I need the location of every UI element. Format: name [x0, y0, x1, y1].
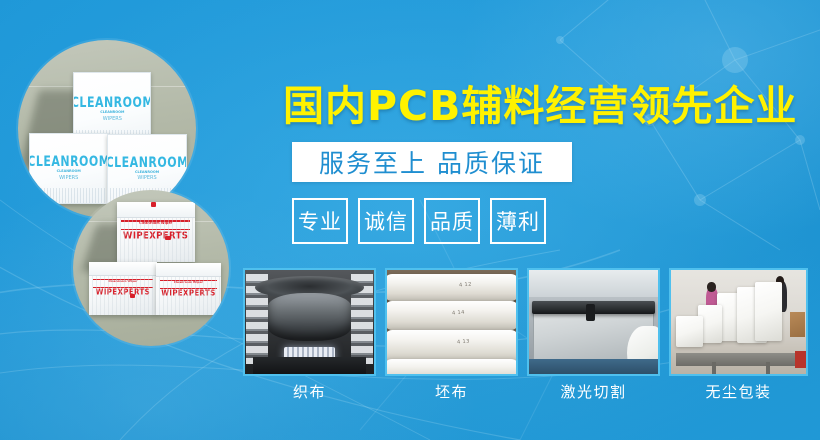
wipexperts-pack: Cleanroom Wiper WIPEXPERTS: [117, 202, 195, 261]
process-photo-strip: 4 12 4 14 4 13: [243, 268, 820, 378]
process-caption-list: 织布 坯布 激光切割 无尘包装: [243, 381, 820, 407]
feature-tag-integrity: 诚信: [358, 198, 414, 244]
wipexperts-pack: Cleanroom Wiper WIPEXPERTS: [156, 263, 222, 314]
banner-headline: 国内PCB辅料经营领先企业: [283, 72, 797, 132]
process-caption-weaving: 织布: [243, 381, 376, 407]
process-photo-dustfree-packing: [669, 268, 808, 376]
feature-tag-quality: 品质: [424, 198, 480, 244]
product-photo-wipexperts: Cleanroom Wiper WIPEXPERTS Cleanroom Wip…: [73, 190, 229, 346]
process-photo-greige-fabric: 4 12 4 14 4 13: [385, 268, 518, 376]
process-caption-laser-cutting: 激光切割: [527, 381, 660, 407]
process-caption-greige-fabric: 坯布: [385, 381, 518, 407]
feature-tag-list: 专业 诚信 品质 薄利: [292, 198, 546, 244]
banner-subtitle-text: 服务至上 品质保证: [319, 144, 545, 180]
banner-subtitle-box: 服务至上 品质保证: [292, 142, 572, 182]
process-photo-weaving: [243, 268, 376, 376]
feature-tag-professional: 专业: [292, 198, 348, 244]
process-photo-laser-cutting: [527, 268, 660, 376]
feature-tag-low-margin: 薄利: [490, 198, 546, 244]
promo-banner: CLEANROOM CLEANROOM WIPERS CLEANROOM CLE…: [0, 0, 820, 440]
wipexperts-pack: Cleanroom Wiper WIPEXPERTS: [89, 262, 158, 315]
process-caption-dustfree-packing: 无尘包装: [669, 381, 808, 407]
